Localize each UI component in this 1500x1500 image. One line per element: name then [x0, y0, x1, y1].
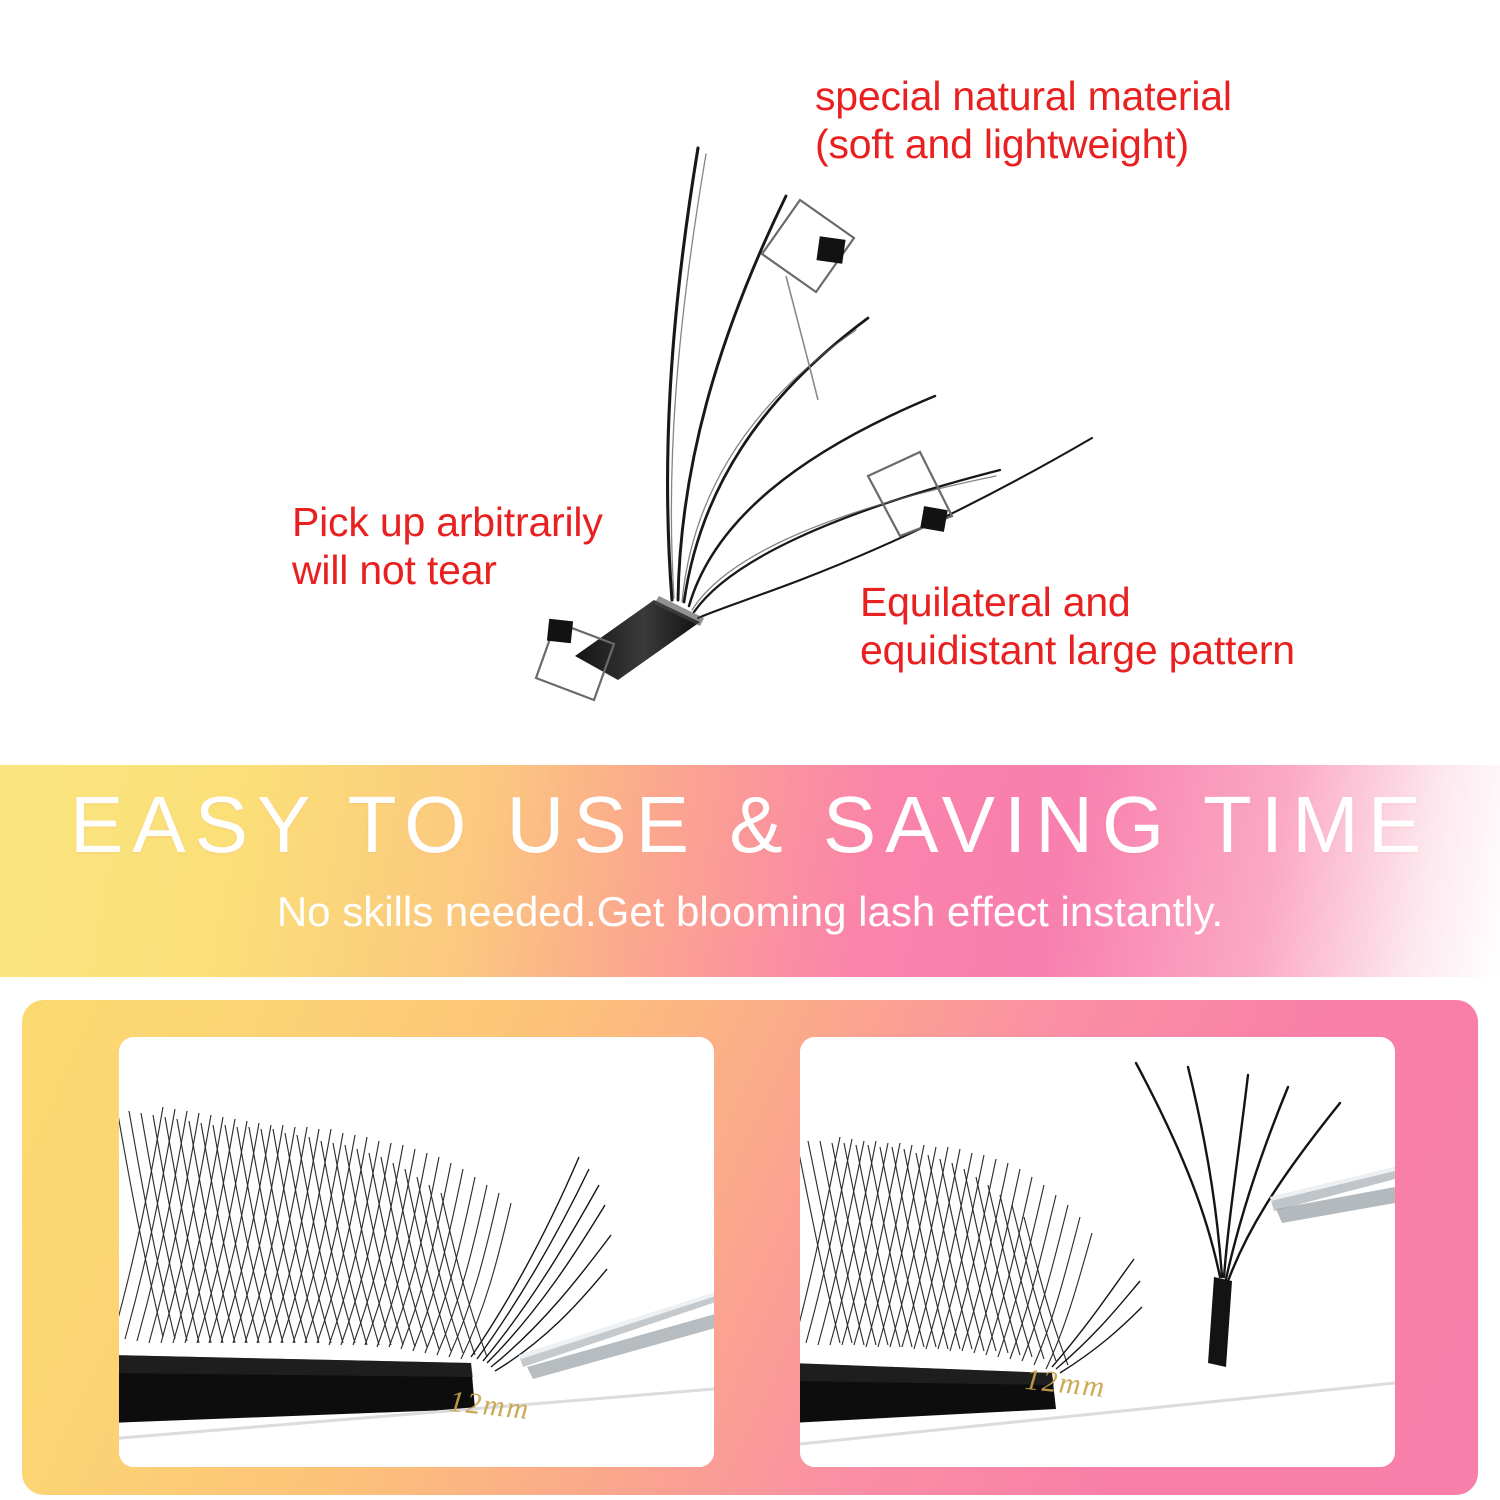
photo-panel-left: 12mm	[119, 1037, 714, 1467]
callout-text-material: special natural material (soft and light…	[815, 72, 1232, 169]
banner-subheadline: No skills needed.Get blooming lash effec…	[0, 888, 1500, 936]
lash-tray-with-tweezers-photo	[119, 1037, 714, 1467]
top-illustration-section: special natural material (soft and light…	[0, 0, 1500, 765]
lash-fibers	[668, 148, 1092, 618]
callout-marker-pattern	[868, 452, 952, 536]
photo-panel-right: 12mm	[800, 1037, 1395, 1467]
lash-base-strip	[575, 596, 704, 680]
promo-banner: EASY TO USE & SAVING TIME No skills need…	[0, 765, 1500, 977]
callout-text-pattern: Equilateral and equidistant large patter…	[860, 578, 1295, 675]
banner-headline: EASY TO USE & SAVING TIME	[0, 783, 1500, 867]
callout-text-pickup: Pick up arbitrarily will not tear	[292, 498, 603, 595]
product-photo-section: 12mm	[22, 1000, 1478, 1495]
